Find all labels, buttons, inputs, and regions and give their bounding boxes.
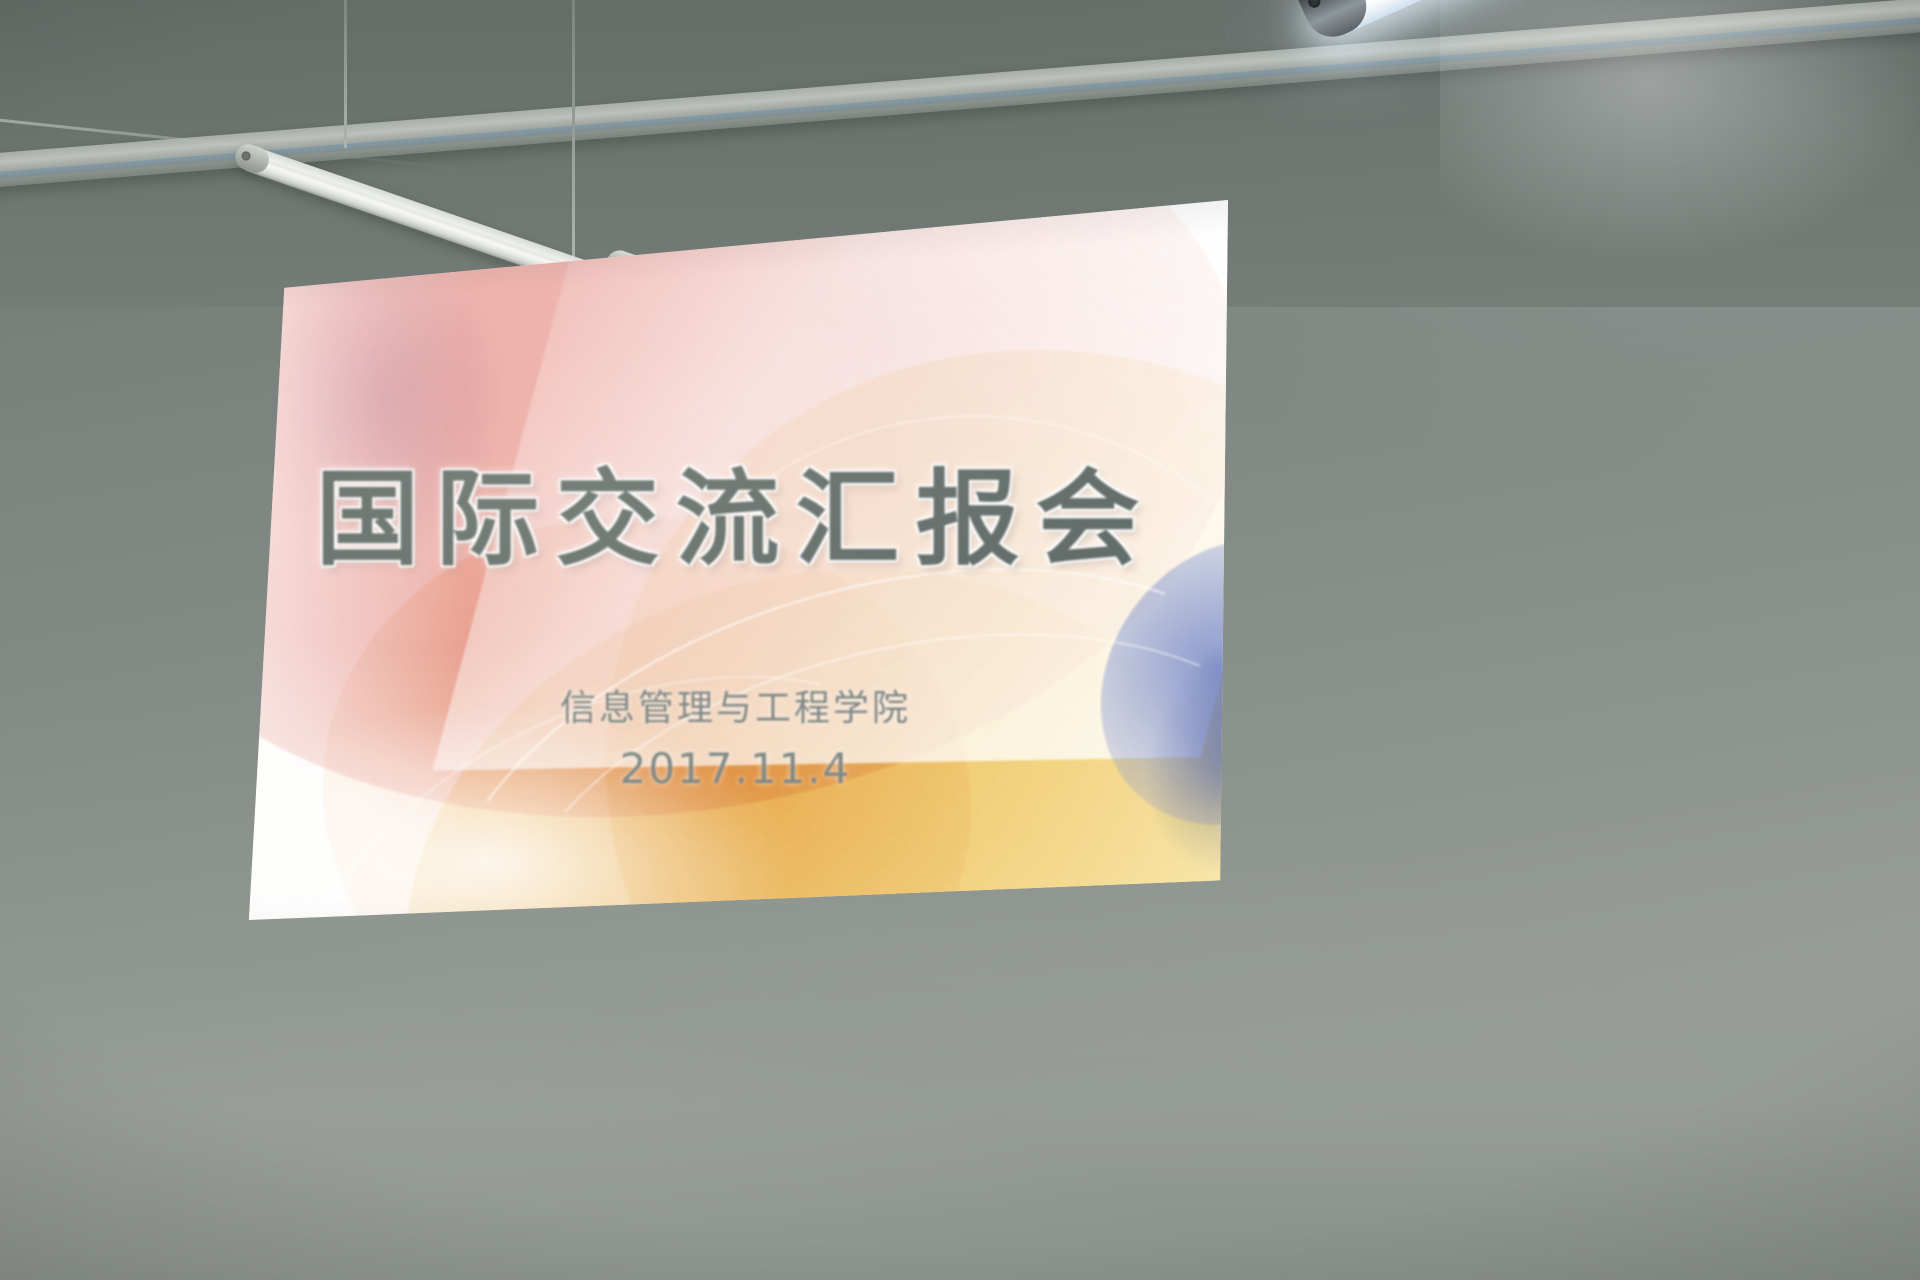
slide-title: 国际交流汇报会: [243, 434, 1228, 585]
lamp-tube-lit: [1313, 0, 1893, 43]
suspension-rod: [572, 0, 575, 262]
lamp-cap-screw: [1306, 0, 1322, 10]
slide-date: 2017.11.4: [243, 744, 1228, 793]
slide-subtitle-organization: 信息管理与工程学院: [243, 679, 1228, 731]
suspended-fluorescent-right-icon: [1320, 0, 1920, 190]
lamp-cap-screw: [240, 150, 251, 161]
slide-text-block: 国际交流汇报会 信息管理与工程学院 2017.11.4: [243, 200, 1228, 920]
photo-scene: 国际交流汇报会 信息管理与工程学院 2017.11.4: [0, 0, 1920, 1280]
projection-screen: 国际交流汇报会 信息管理与工程学院 2017.11.4: [243, 200, 1228, 920]
projected-slide: 国际交流汇报会 信息管理与工程学院 2017.11.4: [243, 200, 1228, 920]
suspension-rod: [344, 0, 347, 148]
